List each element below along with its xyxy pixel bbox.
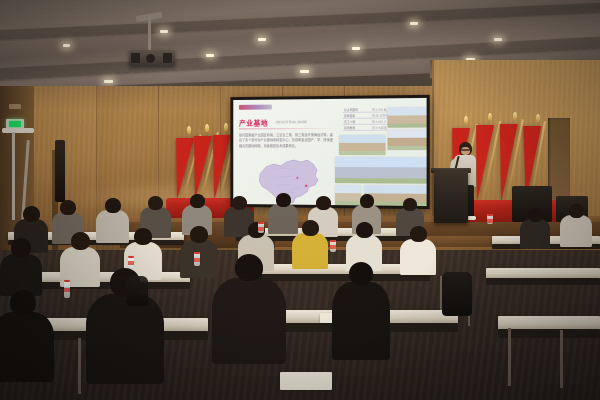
table-cell-key: 建筑面积 [343, 113, 371, 117]
person-head [302, 220, 319, 236]
person-head [569, 204, 584, 218]
flag-finial [205, 124, 209, 132]
person-torso [0, 312, 54, 382]
person-head [528, 208, 543, 222]
table-cell-key: 员工人数 [343, 119, 371, 123]
water-bottle [258, 222, 264, 233]
ceiling-light [300, 70, 309, 73]
photo-campus-aerial [339, 135, 385, 155]
water-bottle [330, 240, 336, 252]
ceiling-marker [9, 104, 21, 109]
person-head [349, 262, 373, 285]
slide-logo [239, 105, 272, 110]
person-head [360, 194, 374, 208]
ceiling-light [494, 38, 502, 41]
person-back-11 [520, 208, 550, 252]
flag-finial [464, 116, 468, 124]
person-head [403, 198, 417, 211]
person-head [60, 200, 76, 215]
bottle-cap [128, 256, 134, 258]
ceiling-light [258, 38, 266, 41]
desk-surface [498, 316, 600, 330]
ceiling-light [160, 30, 168, 33]
water-bottle [194, 252, 200, 266]
lecture-hall-photo: 产业基地 INDUSTRIAL BASE 依托国家级产业园区布局，立足长三角、珠… [0, 0, 600, 400]
person-mid-8 [400, 226, 436, 278]
table-cell-key: 基地数量 [343, 125, 371, 129]
ceiling-light [104, 80, 113, 83]
ceiling-light [206, 54, 214, 57]
paper-sheet [280, 372, 332, 390]
av-cart-tray [2, 128, 34, 133]
ceiling-light [410, 22, 418, 25]
person-torso [212, 278, 286, 364]
person-head [23, 206, 40, 222]
projector-vent [131, 53, 140, 63]
bottle-cap [194, 252, 200, 254]
projector-lens [146, 54, 155, 63]
person-head [11, 238, 31, 257]
person-head [105, 198, 121, 213]
slide-title: 产业基地 [239, 118, 268, 128]
projection-screen-frame: 产业基地 INDUSTRIAL BASE 依托国家级产业园区布局，立足长三角、珠… [230, 95, 429, 209]
person-torso [560, 215, 592, 247]
bottle-label [258, 227, 264, 231]
bottle-label [330, 245, 336, 249]
bottle-cap [258, 222, 264, 224]
photo-office-building [388, 130, 427, 150]
desk-edge [486, 278, 600, 285]
table-cell-key: 总占地面积 [343, 107, 371, 111]
desk-edge [498, 329, 600, 338]
photo-ground [388, 123, 427, 127]
person-head [134, 228, 152, 245]
bottle-label [487, 219, 493, 223]
backpack-on-floor [126, 276, 148, 306]
person-head [10, 290, 36, 315]
person-torso [520, 219, 550, 249]
speaker-podium [434, 171, 468, 223]
person-front-3 [212, 254, 286, 367]
photo-ground [339, 151, 385, 155]
glasses-icon [461, 149, 470, 151]
bottle-label [64, 288, 70, 292]
slide-paragraph: 依托国家级产业园区布局，立足长三角、珠三角及环渤海经济带，建设了多个现代化产业基… [239, 133, 333, 149]
projection-screen: 产业基地 INDUSTRIAL BASE 依托国家级产业园区布局，立足长三角、珠… [233, 98, 426, 206]
person-mid-6 [292, 220, 328, 272]
backpack-on-floor [442, 272, 472, 316]
ceiling-light [352, 47, 360, 50]
person-head [356, 222, 373, 238]
slide-subtitle: INDUSTRIAL BASE [276, 120, 307, 124]
person-head [190, 226, 208, 243]
projector-vent [163, 53, 172, 63]
desk-leg [560, 330, 563, 388]
person-torso [400, 239, 436, 275]
person-front-4 [332, 262, 390, 363]
person-front-2 [86, 268, 164, 387]
presenter-shoe [467, 216, 476, 220]
person-head [410, 226, 427, 242]
photo-panorama [335, 157, 427, 184]
person-head [316, 196, 331, 210]
person-back-12 [560, 204, 592, 250]
person-head [235, 254, 263, 281]
person-torso [292, 233, 328, 269]
photo-facility-front [388, 107, 427, 128]
water-bottle [64, 280, 70, 298]
person-front-1 [0, 290, 54, 385]
ceiling-light [63, 44, 70, 47]
person-head [148, 196, 163, 210]
slide-divider [239, 128, 333, 129]
flag-finial [224, 123, 228, 131]
projector-arm [148, 18, 151, 52]
water-bottle [487, 214, 493, 224]
desk-leg [78, 338, 81, 394]
ceiling-beam [0, 0, 600, 41]
bottle-cap [64, 280, 70, 282]
desk-leg [508, 328, 511, 386]
flag-finial [187, 126, 191, 134]
bottle-label [128, 261, 134, 265]
bottle-cap [330, 240, 336, 242]
photo-ground [335, 178, 427, 184]
wall-speaker [55, 140, 65, 202]
person-torso [86, 294, 164, 384]
water-bottle [128, 256, 134, 268]
bottle-cap [487, 214, 493, 216]
flag-finial [513, 112, 517, 120]
person-head [190, 194, 205, 208]
person-head [276, 193, 291, 207]
person-torso [332, 282, 390, 360]
bottle-label [194, 258, 200, 262]
person-head [232, 196, 247, 210]
photo-ground [388, 146, 427, 150]
person-head [71, 232, 90, 250]
